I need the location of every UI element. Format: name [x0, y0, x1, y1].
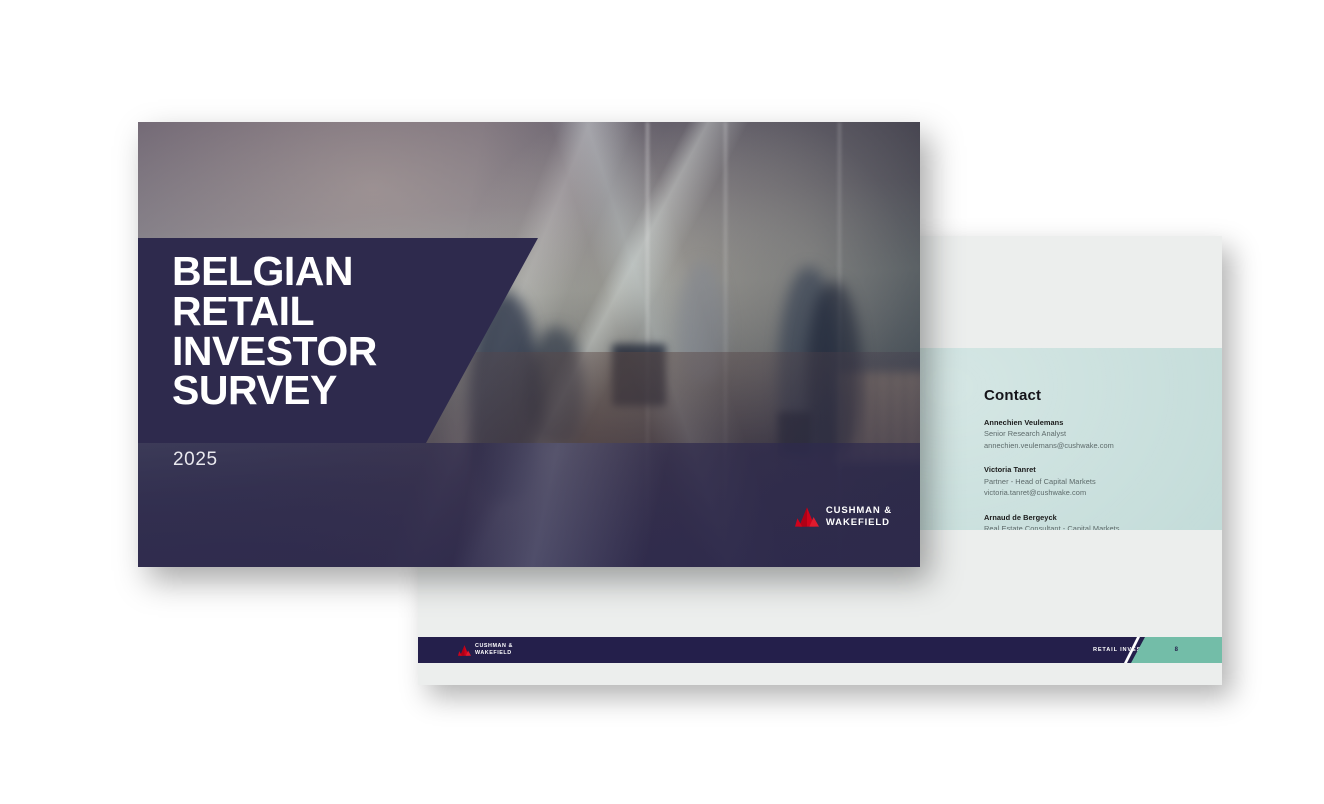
footer-wordmark-line2: WAKEFIELD [475, 650, 513, 657]
footer-logo: CUSHMAN & WAKEFIELD [458, 643, 513, 657]
contact-name: Victoria Tanret [984, 464, 1222, 475]
contact-email[interactable]: annechien.veulemans@cushwake.com [984, 440, 1222, 451]
cover-wordmark: CUSHMAN & WAKEFIELD [826, 505, 892, 529]
footer-wordmark-line1: CUSHMAN & [475, 643, 513, 650]
cover-slide[interactable]: BELGIAN RETAIL INVESTOR SURVEY 2025 CUSH… [138, 122, 920, 567]
cushman-wakefield-mark-icon [458, 644, 471, 657]
contact-role: Senior Research Analyst [984, 428, 1222, 439]
footer-wordmark: CUSHMAN & WAKEFIELD [475, 643, 513, 657]
cover-wordmark-line2: WAKEFIELD [826, 517, 892, 529]
cover-wordmark-line1: CUSHMAN & [826, 505, 892, 517]
contact-role: Partner - Head of Capital Markets [984, 476, 1222, 487]
cover-title: BELGIAN RETAIL INVESTOR SURVEY [172, 252, 502, 411]
contact-heading: Contact [984, 388, 1222, 403]
contact-person: Victoria Tanret Partner - Head of Capita… [984, 464, 1222, 498]
contact-person: Annechien Veulemans Senior Research Anal… [984, 417, 1222, 451]
contact-slide-baseline [418, 663, 1222, 685]
cover-year: 2025 [173, 449, 218, 471]
footer-page-badge: 8 [1131, 637, 1222, 663]
slide-stage: Contact Annechien Veulemans Senior Resea… [0, 0, 1324, 804]
cover-title-line-4: SURVEY [172, 371, 502, 411]
cover-logo: CUSHMAN & WAKEFIELD [795, 505, 892, 529]
cover-title-line-2: RETAIL [172, 292, 502, 332]
page-number: 8 [1175, 647, 1179, 653]
cushman-wakefield-mark-icon [795, 505, 819, 529]
cover-title-line-1: BELGIAN [172, 252, 502, 292]
cover-title-line-3: INVESTOR [172, 332, 502, 372]
contact-name: Annechien Veulemans [984, 417, 1222, 428]
contact-name: Arnaud de Bergeyck [984, 512, 1222, 523]
slide-footer-bar: CUSHMAN & WAKEFIELD RETAIL INVESTOR SURV… [418, 637, 1222, 663]
contact-email[interactable]: victoria.tanret@cushwake.com [984, 487, 1222, 498]
